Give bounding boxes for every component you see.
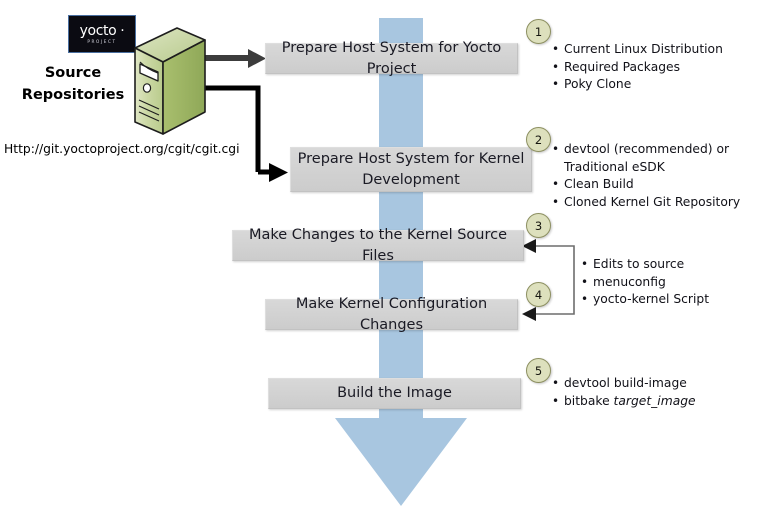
kernel-dev-flow-diagram: yocto · PROJECT: [0, 0, 769, 517]
step-2-notes: devtool (recommended) or Traditional eSD…: [551, 141, 766, 211]
step-5-note-list: devtool build-imagebitbake target_image: [551, 375, 766, 410]
feedback-loop-bracket: [518, 235, 586, 325]
yocto-logo-subtitle: PROJECT: [87, 39, 116, 45]
step-3-4-note-list: Edits to sourcemenuconfigyocto-kernel Sc…: [580, 256, 760, 309]
process-box-make-config-changes[interactable]: Make Kernel Configuration Changes: [265, 299, 518, 330]
step-2-note-list: devtool (recommended) or Traditional eSD…: [551, 141, 766, 211]
note-item: Poky Clone: [551, 76, 766, 94]
note-item: Cloned Kernel Git Repository: [551, 194, 766, 212]
step-1-notes: Current Linux DistributionRequired Packa…: [551, 41, 766, 94]
step-number-2: 2: [526, 127, 551, 152]
step-1-note-list: Current Linux DistributionRequired Packa…: [551, 41, 766, 94]
note-item: devtool (recommended) or Traditional eSD…: [551, 141, 766, 176]
step-number-4: 4: [526, 282, 551, 307]
step-number-1: 1: [526, 19, 551, 44]
note-item: menuconfig: [580, 274, 760, 292]
note-item: bitbake target_image: [551, 393, 766, 411]
note-item: Required Packages: [551, 59, 766, 77]
note-item-emphasis: target_image: [614, 394, 696, 408]
process-box-make-source-changes[interactable]: Make Changes to the Kernel Source Files: [232, 230, 524, 261]
yocto-project-logo: yocto · PROJECT: [68, 15, 136, 53]
source-repositories-url: Http://git.yoctoproject.org/cgit/cgit.cg…: [4, 142, 234, 156]
process-box-build-image[interactable]: Build the Image: [268, 378, 521, 409]
step-5-notes: devtool build-imagebitbake target_image: [551, 375, 766, 410]
process-box-prepare-host-yocto[interactable]: Prepare Host System for Yocto Project: [265, 43, 518, 74]
step-number-5: 5: [526, 358, 551, 383]
step-3-4-shared-notes: Edits to sourcemenuconfigyocto-kernel Sc…: [580, 256, 760, 309]
note-item: Edits to source: [580, 256, 760, 274]
note-item: yocto-kernel Script: [580, 291, 760, 309]
note-item: Current Linux Distribution: [551, 41, 766, 59]
note-item: Clean Build: [551, 176, 766, 194]
process-box-prepare-host-kernel[interactable]: Prepare Host System for Kernel Developme…: [290, 147, 532, 192]
source-repositories-label: Source Repositories: [18, 62, 128, 106]
note-item: devtool build-image: [551, 375, 766, 393]
server-icon: [131, 26, 207, 138]
yocto-logo-wordmark: yocto ·: [80, 24, 125, 38]
step-number-3: 3: [526, 213, 551, 238]
